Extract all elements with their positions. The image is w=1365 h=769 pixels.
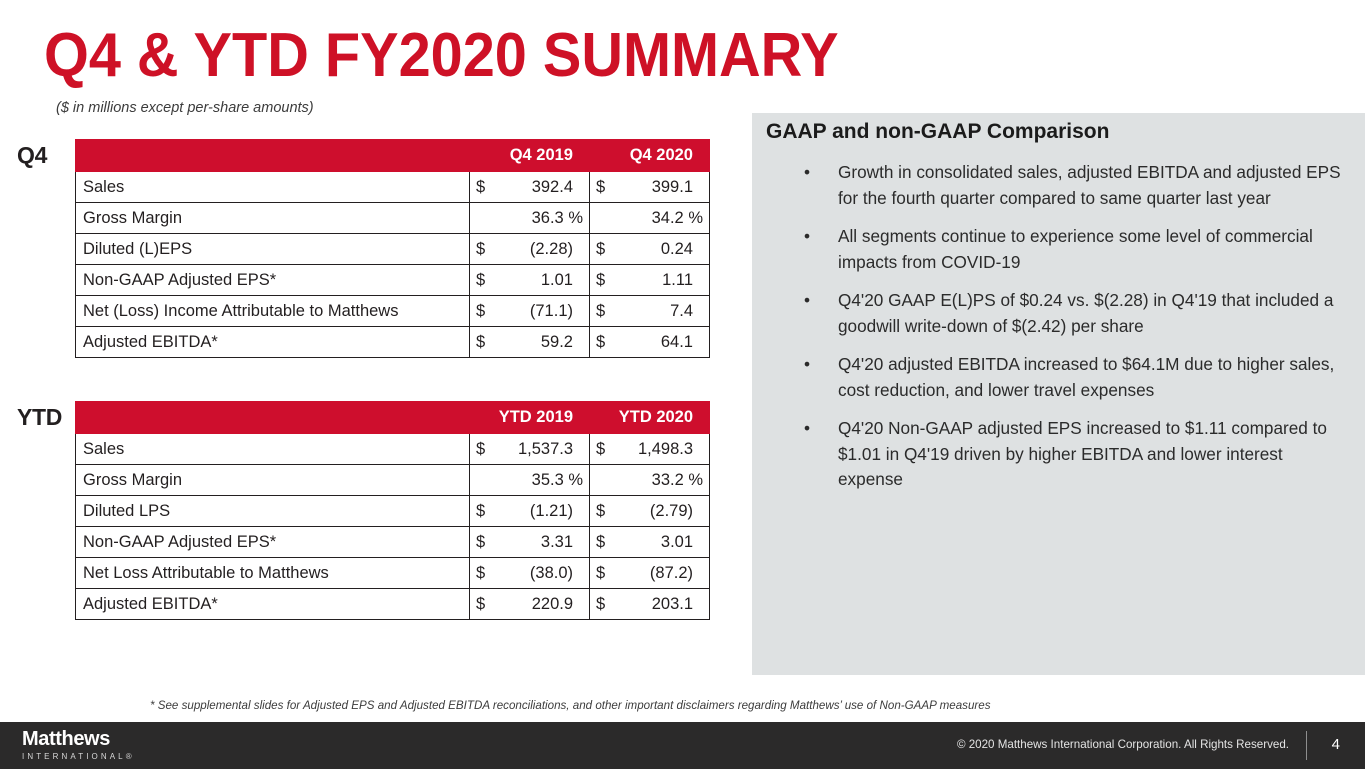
ytd-currency-2019: $	[470, 434, 498, 465]
q4-currency-2020: $	[590, 172, 618, 203]
q4-value-2020: 399.1	[618, 172, 710, 203]
bullet-icon: •	[804, 352, 810, 378]
logo-subtitle: INTERNATIONAL®	[22, 751, 135, 762]
q4-row-label: Net (Loss) Income Attributable to Matthe…	[76, 296, 470, 327]
ytd-currency-2020: $	[590, 527, 618, 558]
q4-value-2019: 1.01	[498, 265, 590, 296]
q4-currency-2020	[590, 203, 618, 234]
ytd-currency-2020: $	[590, 589, 618, 620]
table-row: Diluted LPS $ (1.21) $ (2.79)	[76, 496, 710, 527]
bullet-text: Growth in consolidated sales, adjusted E…	[838, 162, 1341, 208]
ytd-currency-2019: $	[470, 496, 498, 527]
table-row: Non-GAAP Adjusted EPS* $ 1.01 $ 1.11	[76, 265, 710, 296]
ytd-currency-2019: $	[470, 589, 498, 620]
ytd-table-body: Sales $ 1,537.3 $ 1,498.3 Gross Margin 3…	[76, 434, 710, 620]
ytd-value-2020: 1,498.3	[618, 434, 710, 465]
bullet-icon: •	[804, 224, 810, 250]
q4-value-2020: 7.4	[618, 296, 710, 327]
bullet-text: Q4'20 GAAP E(L)PS of $0.24 vs. $(2.28) i…	[838, 290, 1333, 336]
gaap-comparison-panel: GAAP and non-GAAP Comparison • Growth in…	[752, 113, 1365, 675]
table-row: Adjusted EBITDA* $ 220.9 $ 203.1	[76, 589, 710, 620]
table-row: Non-GAAP Adjusted EPS* $ 3.31 $ 3.01	[76, 527, 710, 558]
list-item: • Q4'20 Non-GAAP adjusted EPS increased …	[800, 416, 1349, 493]
ytd-value-2020: 203.1	[618, 589, 710, 620]
ytd-header-blank	[76, 402, 470, 434]
q4-value-2019: (2.28)	[498, 234, 590, 265]
q4-value-2020: 34.2 %	[618, 203, 710, 234]
ytd-table-head: YTD 2019 YTD 2020	[76, 402, 710, 434]
units-note: ($ in millions except per-share amounts)	[56, 100, 314, 116]
table-row: Net Loss Attributable to Matthews $ (38.…	[76, 558, 710, 589]
ytd-value-2019: 220.9	[498, 589, 590, 620]
ytd-value-2020: 3.01	[618, 527, 710, 558]
table-row: Adjusted EBITDA* $ 59.2 $ 64.1	[76, 327, 710, 358]
ytd-value-2019: (38.0)	[498, 558, 590, 589]
ytd-row-label: Adjusted EBITDA*	[76, 589, 470, 620]
ytd-currency-2020: $	[590, 558, 618, 589]
q4-currency-2019: $	[470, 265, 498, 296]
logo-wordmark: Matthews	[22, 729, 135, 750]
q4-value-2019: 392.4	[498, 172, 590, 203]
ytd-value-2019: 3.31	[498, 527, 590, 558]
q4-row-label: Non-GAAP Adjusted EPS*	[76, 265, 470, 296]
copyright-text: © 2020 Matthews International Corporatio…	[957, 738, 1289, 751]
ytd-currency-2019: $	[470, 558, 498, 589]
q4-row-label: Diluted (L)EPS	[76, 234, 470, 265]
list-item: • Growth in consolidated sales, adjusted…	[800, 160, 1349, 211]
ytd-row-label: Non-GAAP Adjusted EPS*	[76, 527, 470, 558]
q4-row-label: Sales	[76, 172, 470, 203]
q4-currency-2020: $	[590, 234, 618, 265]
table-row: Sales $ 1,537.3 $ 1,498.3	[76, 434, 710, 465]
q4-row-label: Gross Margin	[76, 203, 470, 234]
q4-value-2020: 0.24	[618, 234, 710, 265]
table-row: Diluted (L)EPS $ (2.28) $ 0.24	[76, 234, 710, 265]
table-header-row: Q4 2019 Q4 2020	[76, 140, 710, 172]
q4-header-blank	[76, 140, 470, 172]
ytd-financial-table: YTD 2019 YTD 2020 Sales $ 1,537.3 $ 1,49…	[75, 401, 710, 620]
bullet-icon: •	[804, 416, 810, 442]
q4-currency-2019: $	[470, 172, 498, 203]
footnote-disclaimer: * See supplemental slides for Adjusted E…	[150, 699, 991, 712]
table-row: Gross Margin 36.3 % 34.2 %	[76, 203, 710, 234]
ytd-row-label: Net Loss Attributable to Matthews	[76, 558, 470, 589]
page-title: Q4 & YTD FY2020 SUMMARY	[44, 22, 839, 90]
footer-divider	[1306, 731, 1307, 760]
q4-currency-2019: $	[470, 234, 498, 265]
q4-currency-2019: $	[470, 327, 498, 358]
page-number: 4	[1332, 736, 1340, 753]
ytd-header-2020: YTD 2020	[590, 402, 710, 434]
gaap-bullet-list: • Growth in consolidated sales, adjusted…	[800, 160, 1349, 506]
ytd-value-2020: 33.2 %	[618, 465, 710, 496]
bullet-icon: •	[804, 160, 810, 186]
q4-value-2020: 1.11	[618, 265, 710, 296]
ytd-value-2019: (1.21)	[498, 496, 590, 527]
ytd-currency-2019: $	[470, 527, 498, 558]
section-label-ytd: YTD	[17, 404, 62, 431]
q4-row-label: Adjusted EBITDA*	[76, 327, 470, 358]
ytd-row-label: Diluted LPS	[76, 496, 470, 527]
matthews-logo: Matthews INTERNATIONAL®	[22, 729, 135, 762]
bullet-text: Q4'20 Non-GAAP adjusted EPS increased to…	[838, 418, 1327, 489]
ytd-currency-2020: $	[590, 496, 618, 527]
ytd-header-2019: YTD 2019	[470, 402, 590, 434]
bullet-icon: •	[804, 288, 810, 314]
q4-currency-2020: $	[590, 327, 618, 358]
ytd-row-label: Gross Margin	[76, 465, 470, 496]
list-item: • Q4'20 GAAP E(L)PS of $0.24 vs. $(2.28)…	[800, 288, 1349, 339]
q4-currency-2020: $	[590, 265, 618, 296]
section-label-q4: Q4	[17, 142, 47, 169]
list-item: • Q4'20 adjusted EBITDA increased to $64…	[800, 352, 1349, 403]
table-row: Gross Margin 35.3 % 33.2 %	[76, 465, 710, 496]
q4-table-head: Q4 2019 Q4 2020	[76, 140, 710, 172]
q4-header-2020: Q4 2020	[590, 140, 710, 172]
table-row: Net (Loss) Income Attributable to Matthe…	[76, 296, 710, 327]
gaap-panel-title: GAAP and non-GAAP Comparison	[766, 120, 1109, 144]
list-item: • All segments continue to experience so…	[800, 224, 1349, 275]
q4-currency-2019: $	[470, 296, 498, 327]
ytd-value-2020: (2.79)	[618, 496, 710, 527]
q4-value-2019: (71.1)	[498, 296, 590, 327]
bullet-text: Q4'20 adjusted EBITDA increased to $64.1…	[838, 354, 1334, 400]
q4-currency-2020: $	[590, 296, 618, 327]
ytd-currency-2020: $	[590, 434, 618, 465]
q4-value-2019: 36.3 %	[498, 203, 590, 234]
q4-currency-2019	[470, 203, 498, 234]
table-row: Sales $ 392.4 $ 399.1	[76, 172, 710, 203]
ytd-currency-2019	[470, 465, 498, 496]
ytd-currency-2020	[590, 465, 618, 496]
q4-table-body: Sales $ 392.4 $ 399.1 Gross Margin 36.3 …	[76, 172, 710, 358]
table-header-row: YTD 2019 YTD 2020	[76, 402, 710, 434]
footer-bar: Matthews INTERNATIONAL® © 2020 Matthews …	[0, 722, 1365, 769]
q4-header-2019: Q4 2019	[470, 140, 590, 172]
ytd-value-2019: 1,537.3	[498, 434, 590, 465]
ytd-value-2019: 35.3 %	[498, 465, 590, 496]
ytd-value-2020: (87.2)	[618, 558, 710, 589]
q4-value-2020: 64.1	[618, 327, 710, 358]
q4-financial-table: Q4 2019 Q4 2020 Sales $ 392.4 $ 399.1 Gr…	[75, 139, 710, 358]
q4-value-2019: 59.2	[498, 327, 590, 358]
bullet-text: All segments continue to experience some…	[838, 226, 1313, 272]
ytd-row-label: Sales	[76, 434, 470, 465]
